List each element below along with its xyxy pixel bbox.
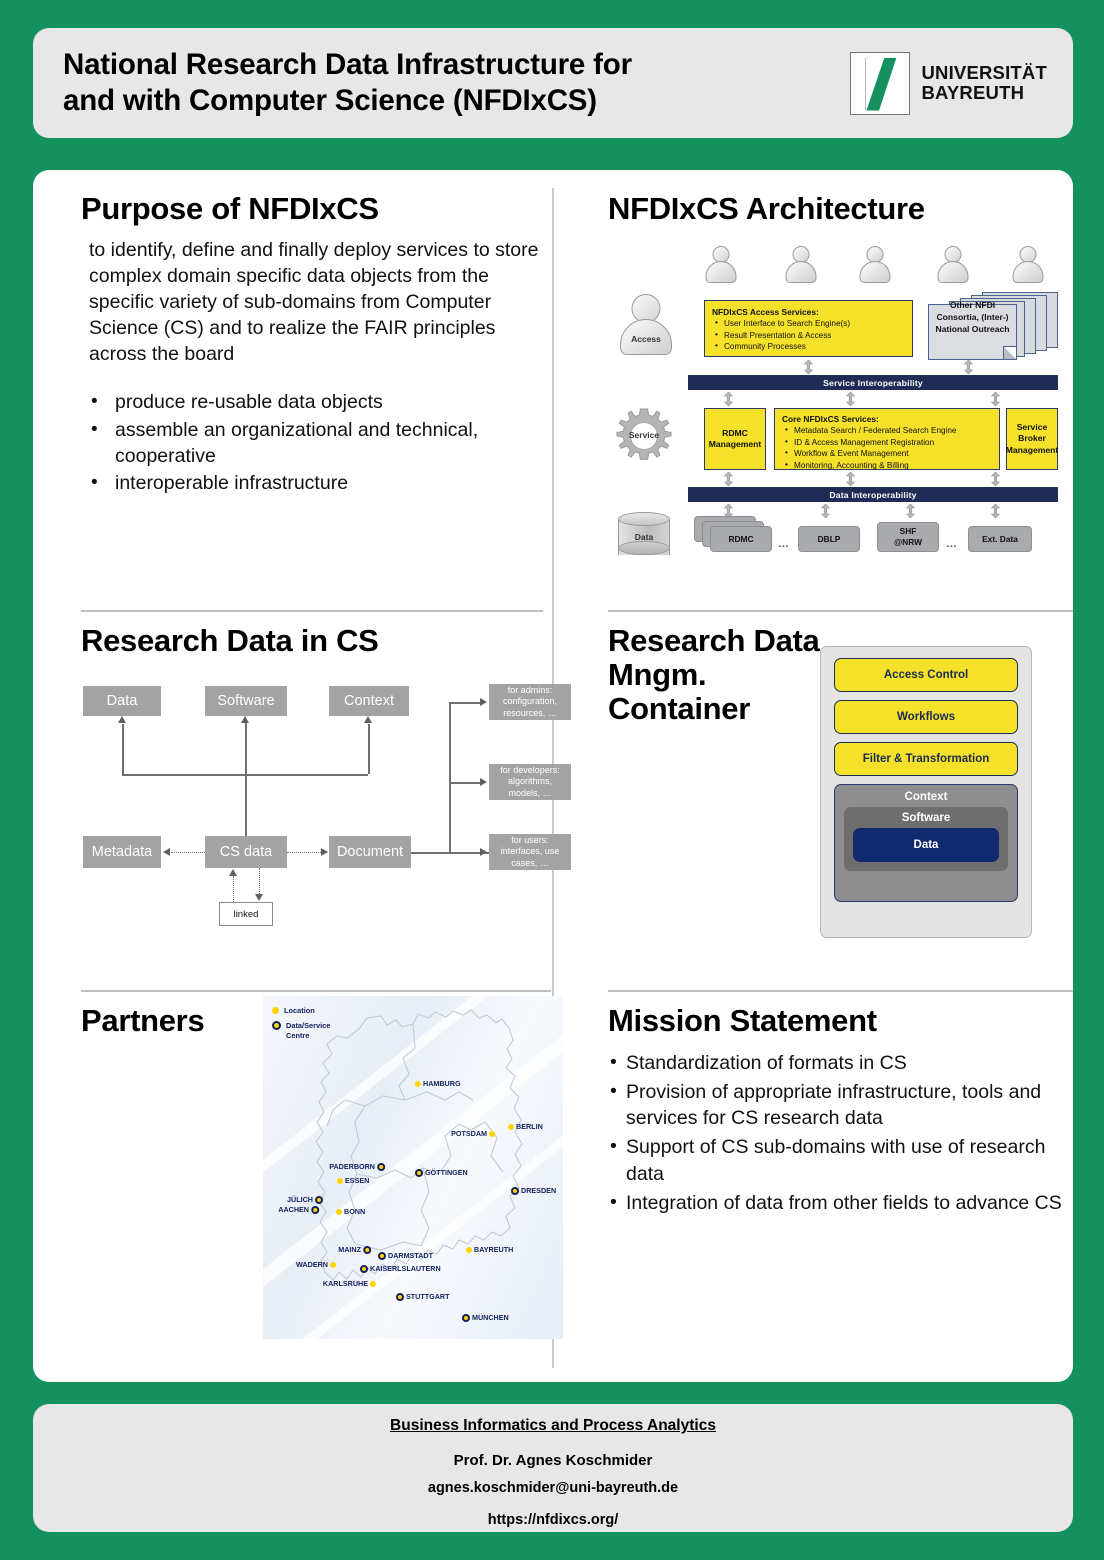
map-city-label: DARMSTADT	[388, 1251, 433, 1260]
logo-mark-icon	[850, 52, 910, 115]
data-source-shf: SHF @NRW	[877, 522, 939, 552]
user-icon	[858, 246, 892, 286]
centre-dot-icon	[272, 1021, 281, 1030]
arrowhead-icon	[364, 716, 372, 723]
map-city-marker: JÜLICH	[287, 1195, 323, 1204]
user-icon	[1011, 246, 1045, 286]
list-item: Monitoring, Accounting & Billing	[782, 460, 992, 472]
arrowhead-icon	[163, 848, 170, 856]
list-item: assemble an organizational and technical…	[81, 418, 541, 470]
data-source-ext: Ext. Data	[968, 526, 1032, 552]
edge-csdata-document	[287, 852, 321, 853]
access-services-list: User Interface to Search Engine(s) Resul…	[712, 318, 905, 353]
data-interoperability-bar: Data Interoperability	[688, 487, 1058, 502]
list-item: Support of CS sub-domains with use of re…	[608, 1134, 1073, 1186]
map-city-label: BERLIN	[516, 1122, 543, 1131]
list-item: Integration of data from other fields to…	[608, 1190, 1073, 1216]
map-city-marker: WADERN	[296, 1260, 336, 1269]
double-arrow-icon	[991, 392, 1000, 406]
location-dot-icon	[370, 1281, 376, 1287]
map-city-marker: POTSDAM	[451, 1129, 495, 1138]
data-actor-label: Data	[618, 532, 670, 542]
list-item: Workflow & Event Management	[782, 448, 992, 460]
access-actor-icon: Access	[618, 294, 674, 358]
footer-url[interactable]: https://nfdixcs.org/	[33, 1512, 1073, 1528]
arrowhead-icon	[321, 848, 328, 856]
arrowhead-icon	[480, 698, 487, 706]
section-rule	[608, 610, 1073, 612]
section-rule	[81, 610, 543, 612]
mission-heading: Mission Statement	[608, 1004, 1073, 1038]
section-partners: Partners	[81, 990, 551, 1038]
architecture-diagram: Access NFDIxCS Access Services: User Int…	[606, 240, 1058, 570]
centre-dot-icon	[511, 1187, 519, 1195]
edge-linked-down	[259, 868, 260, 894]
location-dot-icon	[415, 1081, 421, 1087]
list-item: Standardization of formats in CS	[608, 1050, 1073, 1076]
university-logo: UNIVERSITÄT BAYREUTH	[850, 52, 1047, 115]
centre-dot-icon	[378, 1252, 386, 1260]
user-icon	[784, 246, 818, 286]
map-city-marker: KARLSRUHE	[323, 1279, 376, 1288]
user-icon	[704, 246, 738, 286]
section-research-data-cs: Research Data in CS Data Software Contex…	[81, 610, 543, 948]
list-item: User Interface to Search Engine(s)	[712, 318, 905, 330]
map-city-label: PADERBORN	[329, 1162, 375, 1171]
edge-to-data	[122, 724, 124, 774]
map-city-label: GÖTTINGEN	[425, 1168, 468, 1177]
section-rule	[81, 990, 551, 992]
location-dot-icon	[272, 1007, 279, 1014]
service-actor-label: Service	[616, 430, 672, 440]
map-city-marker: BAYREUTH	[466, 1245, 513, 1254]
map-city-marker: MÜNCHEN	[462, 1313, 509, 1322]
map-city-label: BAYREUTH	[474, 1245, 513, 1254]
centre-dot-icon	[462, 1314, 470, 1322]
footer-department: Business Informatics and Process Analyti…	[33, 1417, 1073, 1435]
research-data-cs-heading: Research Data in CS	[81, 624, 543, 658]
arrowhead-icon	[480, 778, 487, 786]
map-city-marker: BERLIN	[508, 1122, 543, 1131]
layer-software: Software Data	[844, 807, 1008, 871]
map-city-marker: HAMBURG	[415, 1079, 461, 1088]
purpose-bullets: produce re-usable data objects assemble …	[81, 390, 541, 498]
logo-line-1: UNIVERSITÄT	[921, 63, 1047, 83]
edge-tree-trunk	[449, 702, 451, 852]
double-arrow-icon	[906, 504, 915, 518]
double-arrow-icon	[724, 392, 733, 406]
location-dot-icon	[336, 1209, 342, 1215]
map-city-marker: MAINZ	[338, 1245, 371, 1254]
map-city-label: KARLSRUHE	[323, 1279, 368, 1288]
section-rdm-container: Research Data Mngm. Container Access Con…	[608, 610, 1073, 726]
map-city-marker: DARMSTADT	[378, 1251, 433, 1260]
node-cs-data: CS data	[205, 836, 287, 868]
map-city-label: BONN	[344, 1207, 365, 1216]
arrowhead-icon	[255, 894, 263, 901]
layer-filter-transformation: Filter & Transformation	[834, 742, 1018, 776]
arrowhead-icon	[241, 716, 249, 723]
map-city-marker: BONN	[336, 1207, 365, 1216]
section-purpose: Purpose of NFDIxCS to identify, define a…	[81, 192, 541, 499]
map-city-label: STUTTGART	[406, 1292, 450, 1301]
logo-line-2: BAYREUTH	[921, 83, 1047, 103]
section-architecture: NFDIxCS Architecture Access NFDIxCS Acce…	[608, 192, 1060, 570]
core-services-list: Metadata Search / Federated Search Engin…	[782, 425, 992, 472]
double-arrow-icon	[991, 472, 1000, 486]
double-arrow-icon	[846, 392, 855, 406]
footer-email[interactable]: agnes.koschmider@uni-bayreuth.de	[33, 1480, 1073, 1496]
data-source-dblp: DBLP	[798, 526, 860, 552]
arrowhead-icon	[229, 869, 237, 876]
map-city-label: WADERN	[296, 1260, 328, 1269]
node-data: Data	[83, 686, 161, 716]
list-item: Provision of appropriate infrastructure,…	[608, 1079, 1073, 1131]
double-arrow-icon	[821, 504, 830, 518]
legend-label: Data/Service Centre	[286, 1021, 340, 1042]
service-interoperability-bar: Service Interoperability	[688, 375, 1058, 390]
edge-linked-up	[233, 876, 234, 902]
double-arrow-icon	[804, 360, 813, 374]
map-city-label: JÜLICH	[287, 1195, 313, 1204]
page-title: National Research Data Infrastructure fo…	[63, 47, 632, 119]
list-item: Result Presentation & Access	[712, 330, 905, 342]
edge-csdata-software	[245, 723, 247, 836]
legend-label: Location	[284, 1006, 315, 1017]
section-rule	[608, 990, 1073, 992]
double-arrow-icon	[846, 472, 855, 486]
map-city-marker: STUTTGART	[396, 1292, 450, 1301]
poster-root: National Research Data Infrastructure fo…	[0, 0, 1104, 1560]
location-dot-icon	[508, 1124, 514, 1130]
node-for-users: for users: interfaces, use cases, …	[489, 834, 571, 870]
map-city-label: MÜNCHEN	[472, 1313, 509, 1322]
rdmc-management-box: RDMC Management	[704, 408, 766, 470]
software-label: Software	[853, 812, 999, 824]
section-mission: Mission Statement Standardization of for…	[608, 990, 1073, 1219]
map-city-label: DRESDEN	[521, 1186, 556, 1195]
access-services-title: NFDIxCS Access Services:	[712, 307, 905, 317]
map-city-label: HAMBURG	[423, 1079, 461, 1088]
layer-access-control: Access Control	[834, 658, 1018, 692]
legend-item-location: Location	[272, 1006, 340, 1017]
edge-to-context	[368, 724, 370, 774]
map-city-marker: KAISERLSLAUTERN	[360, 1264, 441, 1273]
edge-data-context-link	[122, 774, 368, 776]
poster-footer: Business Informatics and Process Analyti…	[33, 1404, 1073, 1532]
ellipsis-1: …	[778, 538, 790, 550]
map-city-label: ESSEN	[345, 1176, 369, 1185]
node-context: Context	[329, 686, 409, 716]
list-item: produce re-usable data objects	[81, 390, 541, 416]
service-broker-box: Service Broker Management	[1006, 408, 1058, 470]
poster-header: National Research Data Infrastructure fo…	[33, 28, 1073, 138]
footer-person: Prof. Dr. Agnes Koschmider	[33, 1452, 1073, 1469]
access-actor-label: Access	[618, 334, 674, 344]
ellipsis-2: …	[946, 538, 958, 550]
arrowhead-icon	[480, 848, 487, 856]
map-city-label: AACHEN	[278, 1205, 309, 1214]
location-dot-icon	[489, 1131, 495, 1137]
core-services-box: Core NFDIxCS Services: Metadata Search /…	[774, 408, 1000, 470]
service-gear-icon: Service	[616, 408, 672, 464]
other-consortia-label: Other NFDI Consortia, (Inter-) National …	[928, 300, 1017, 336]
map-legend: Location Data/Service Centre	[272, 1006, 340, 1046]
mission-bullets: Standardization of formats in CS Provisi…	[608, 1050, 1073, 1216]
map-city-label: POTSDAM	[451, 1129, 487, 1138]
arrowhead-icon	[118, 716, 126, 723]
germany-map: Location Data/Service Centre HAMBURGBERL…	[263, 996, 563, 1339]
edge-to-developers	[449, 782, 481, 784]
logo-text: UNIVERSITÄT BAYREUTH	[921, 63, 1047, 103]
map-city-marker: PADERBORN	[329, 1162, 385, 1171]
research-data-cs-diagram: Data Software Context Metadata CS data D…	[81, 668, 581, 948]
list-item: Community Processes	[712, 341, 905, 353]
centre-dot-icon	[360, 1265, 368, 1273]
purpose-heading: Purpose of NFDIxCS	[81, 192, 541, 226]
map-city-marker: GÖTTINGEN	[415, 1168, 468, 1177]
location-dot-icon	[466, 1247, 472, 1253]
access-services-box: NFDIxCS Access Services: User Interface …	[704, 300, 913, 357]
centre-dot-icon	[363, 1246, 371, 1254]
centre-dot-icon	[311, 1206, 319, 1214]
centre-dot-icon	[396, 1293, 404, 1301]
location-dot-icon	[337, 1178, 343, 1184]
edge-csdata-metadata	[171, 852, 205, 853]
legend-item-centre: Data/Service Centre	[272, 1021, 340, 1042]
node-metadata: Metadata	[83, 836, 161, 868]
node-for-developers: for developers: algorithms, models, …	[489, 764, 571, 800]
node-linked: linked	[219, 902, 273, 926]
list-item: interoperable infrastructure	[81, 471, 541, 497]
rdm-container-diagram: Access Control Workflows Filter & Transf…	[820, 646, 1032, 938]
map-city-marker: AACHEN	[278, 1205, 319, 1214]
layer-workflows: Workflows	[834, 700, 1018, 734]
architecture-heading: NFDIxCS Architecture	[608, 192, 1060, 226]
layer-context: Context Software Data	[834, 784, 1018, 902]
map-city-label: KAISERLSLAUTERN	[370, 1264, 441, 1273]
list-item: ID & Access Management Registration	[782, 437, 992, 449]
double-arrow-icon	[724, 472, 733, 486]
other-consortia-stack: Other NFDI Consortia, (Inter-) National …	[928, 292, 1058, 362]
context-label: Context	[844, 791, 1008, 803]
data-store-icon: Data	[618, 512, 670, 562]
map-city-marker: ESSEN	[337, 1176, 369, 1185]
location-dot-icon	[330, 1262, 336, 1268]
node-document: Document	[329, 836, 411, 868]
core-services-title: Core NFDIxCS Services:	[782, 414, 992, 424]
node-software: Software	[205, 686, 287, 716]
map-city-marker: DRESDEN	[511, 1186, 556, 1195]
edge-to-admins	[449, 702, 481, 704]
node-for-admins: for admins: configuration, resources, …	[489, 684, 571, 720]
centre-dot-icon	[315, 1196, 323, 1204]
data-source-rdmc: RDMC	[710, 526, 772, 552]
centre-dot-icon	[415, 1169, 423, 1177]
layer-data: Data	[853, 828, 999, 862]
purpose-paragraph: to identify, define and finally deploy s…	[89, 238, 541, 368]
map-city-label: MAINZ	[338, 1245, 361, 1254]
double-arrow-icon	[964, 360, 973, 374]
edge-document-out	[411, 852, 489, 854]
double-arrow-icon	[991, 504, 1000, 518]
centre-dot-icon	[377, 1163, 385, 1171]
list-item: Metadata Search / Federated Search Engin…	[782, 425, 992, 437]
poster-body: Purpose of NFDIxCS to identify, define a…	[33, 170, 1073, 1382]
user-icon	[936, 246, 970, 286]
